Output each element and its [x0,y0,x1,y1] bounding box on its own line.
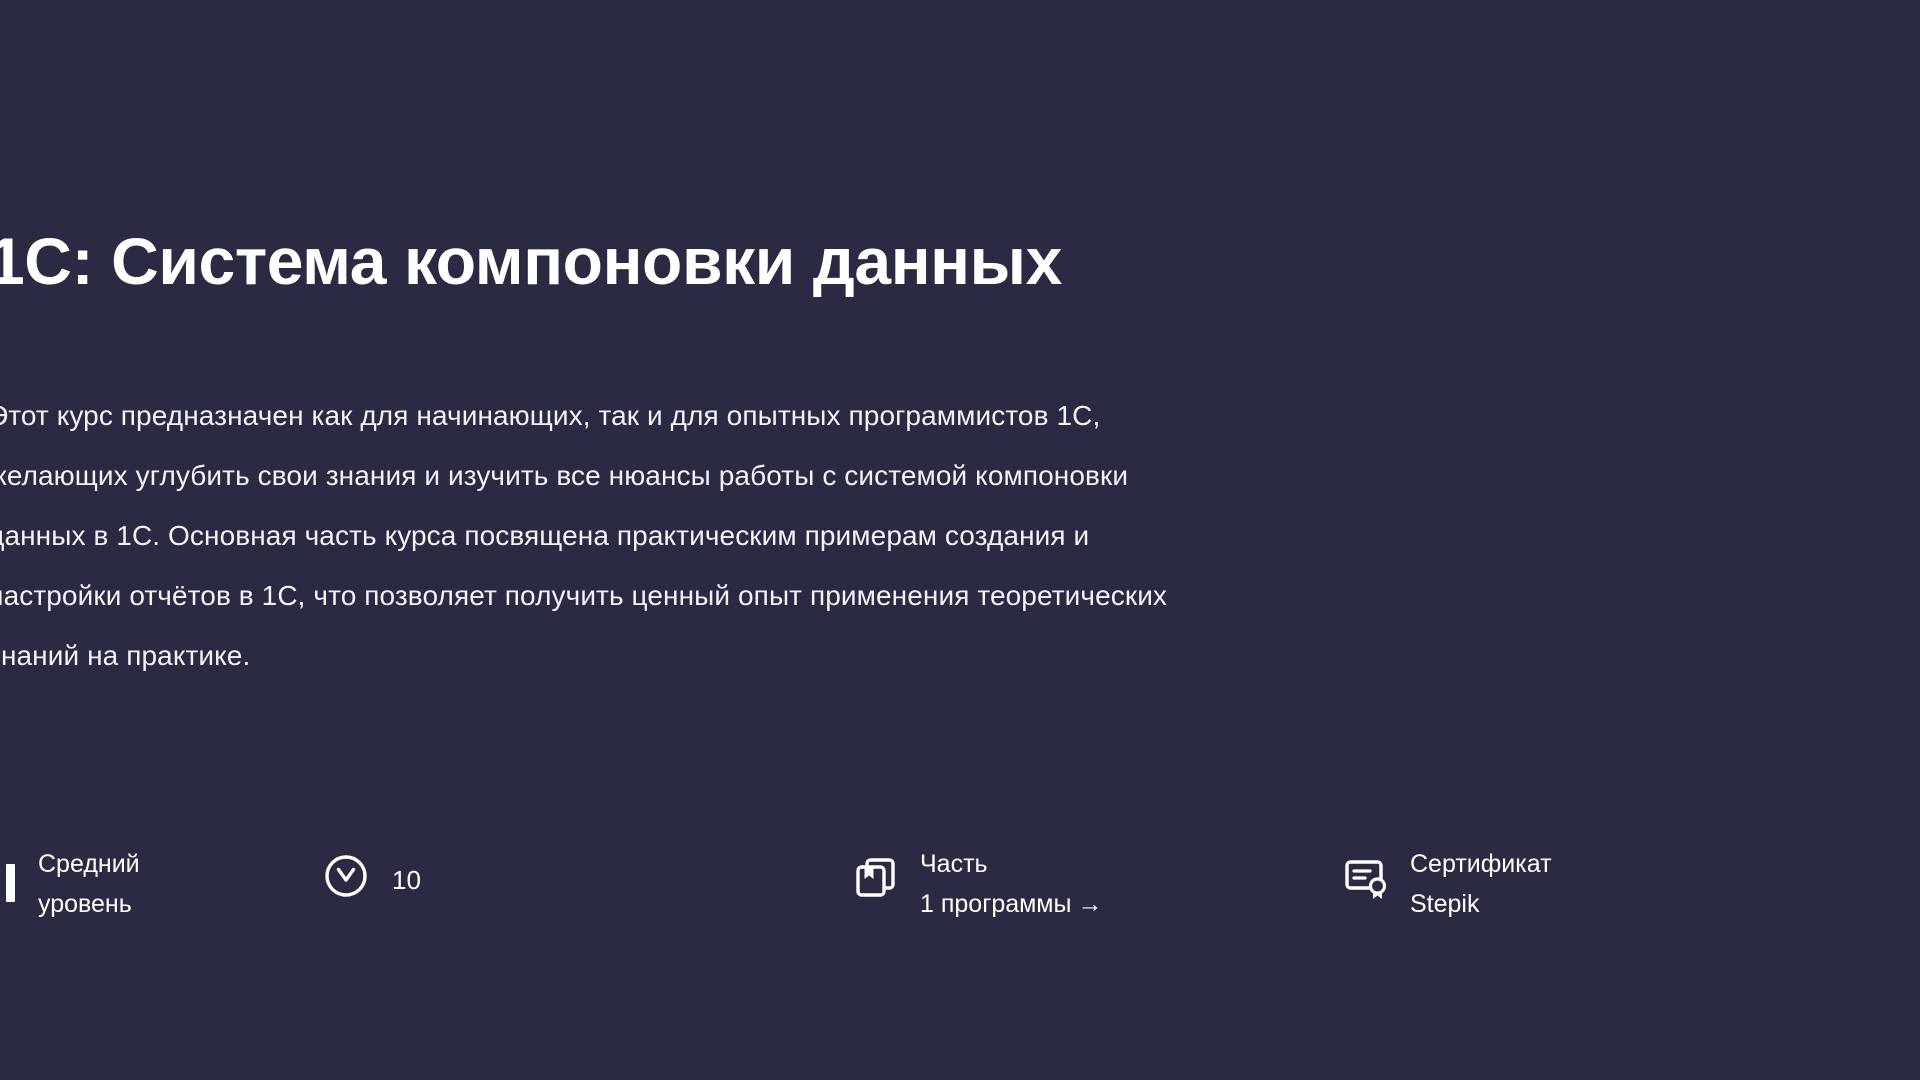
meta-certificate-line1: Сертификат [1410,844,1552,884]
meta-level-line1: Средний [38,844,140,884]
description-line: данных в 1С. Основная часть курса посвящ… [0,506,1868,566]
description-line: настройки отчётов в 1С, что позволяет по… [0,566,1868,626]
meta-item-level: Средний уровень [0,840,140,930]
clock-icon [318,848,374,904]
meta-certificate-line2: Stepik [1410,884,1552,924]
description-line: Этот курс предназначен как для начинающи… [0,386,1868,446]
arrow-right-icon: → [1071,884,1102,924]
meta-program-text: Часть 1 программы→ [920,840,1102,924]
meta-level-line2: уровень [38,884,140,924]
course-hero-page: 1C: Система компоновки данных Этот курс … [0,0,1920,1080]
meta-program-label: 1 программы [920,890,1071,918]
bar-level-icon [0,854,22,910]
description-line: желающих углубить свои знания и изучить … [0,446,1868,506]
stacked-books-icon [848,850,904,906]
course-hero-content: 1C: Система компоновки данных Этот курс … [0,0,1920,1080]
meta-level-text: Средний уровень [38,840,140,924]
meta-item-duration: 10 [318,840,421,930]
meta-program-line2[interactable]: 1 программы→ [920,884,1102,924]
certificate-icon [1338,850,1394,906]
meta-program-line1: Часть [920,844,1102,884]
meta-item-certificate: Сертификат Stepik [1338,840,1552,930]
page-title: 1C: Система компоновки данных [0,222,1062,300]
course-description: Этот курс предназначен как для начинающи… [0,386,1868,686]
meta-duration-value: 10 [390,840,421,920]
description-line: знаний на практике. [0,626,1868,686]
meta-certificate-text: Сертификат Stepik [1410,840,1552,924]
meta-item-program[interactable]: Часть 1 программы→ [848,840,1102,930]
